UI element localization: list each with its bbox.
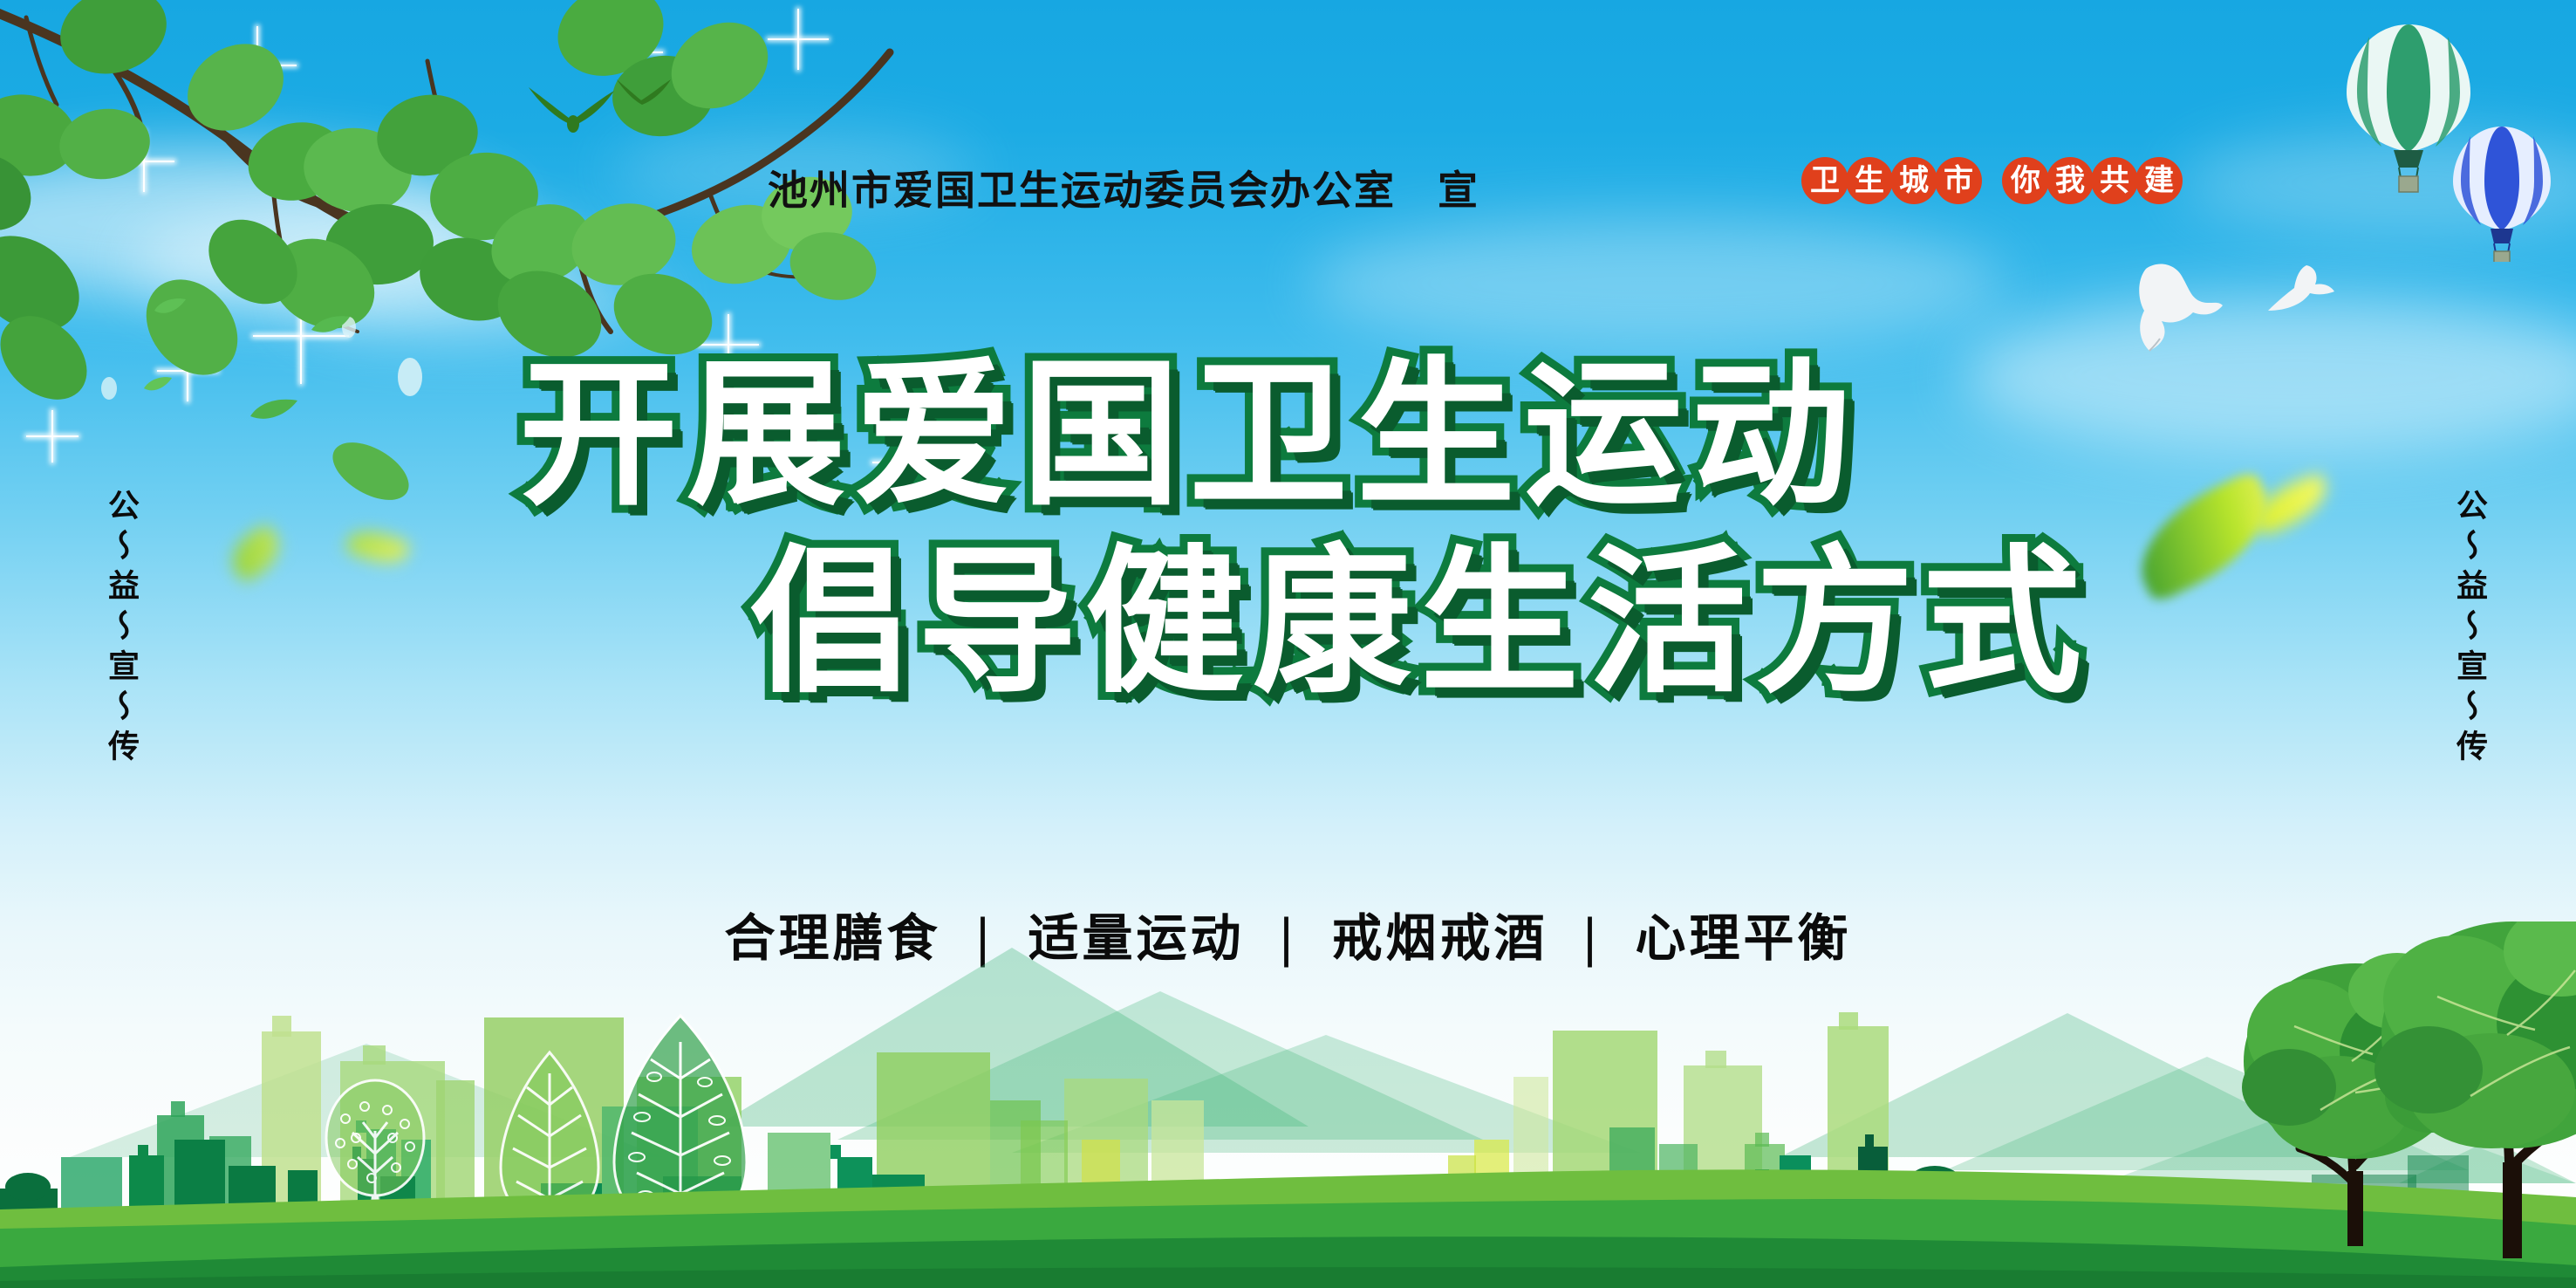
badge-group-one: 卫 生 城 市 <box>1801 157 1979 204</box>
badge-char: 市 <box>1935 157 1982 204</box>
poster-canvas: 池州市爱国卫生运动委员会办公室 宣 卫 生 城 市 你 我 共 建 开展爱国卫生… <box>0 0 2576 1288</box>
badge-char: 建 <box>2135 157 2183 204</box>
floating-leaf <box>142 375 174 394</box>
badge-char: 卫 <box>1801 157 1848 204</box>
floating-leaf <box>153 297 188 318</box>
flying-bird-icon <box>613 74 674 113</box>
dove-icon <box>2127 253 2231 358</box>
floating-leaf-blurred <box>222 522 289 585</box>
sparkle-icon <box>218 26 297 105</box>
dove-icon <box>2258 260 2336 330</box>
cloud-shape <box>288 262 663 340</box>
sparkle-icon <box>113 131 174 192</box>
floating-leaf <box>310 314 352 337</box>
side-label-left: 公～益～宣～传 <box>98 489 143 770</box>
cloud-shape <box>1308 218 2006 349</box>
badge-char: 生 <box>1846 157 1893 204</box>
badge-char: 城 <box>1890 157 1937 204</box>
badge-group-two: 你 我 共 建 <box>2002 157 2180 204</box>
sparkle-icon <box>253 288 349 384</box>
floating-leaf-blurred <box>2246 471 2335 537</box>
title-line-1: 开展爱国卫生运动 <box>519 349 1859 521</box>
side-label-right: 公～益～宣～传 <box>2446 489 2491 770</box>
hot-air-balloon-blue <box>2450 122 2554 262</box>
cloud-shape <box>1963 297 2576 454</box>
sparkle-icon <box>593 17 663 87</box>
badge-char: 我 <box>2046 157 2094 204</box>
floating-leaf <box>249 397 299 423</box>
flying-bird-icon <box>523 79 628 140</box>
floating-leaf-blurred <box>2121 469 2288 604</box>
title-line-2: 倡导健康生活方式 <box>750 537 2090 709</box>
sparkle-icon <box>157 340 218 401</box>
badge-char: 共 <box>2091 157 2138 204</box>
cloud-shape <box>2181 131 2576 236</box>
floating-leaf-blurred <box>344 524 411 571</box>
hot-air-balloon-green <box>2343 19 2474 194</box>
city-scene <box>0 921 2576 1288</box>
cloud-shape <box>0 148 506 297</box>
sparkle-icon <box>768 9 829 70</box>
slogan-badges: 卫 生 城 市 你 我 共 建 <box>1801 157 2180 204</box>
sparkle-icon <box>26 410 79 462</box>
cloud-shape <box>131 209 584 314</box>
organization-line: 池州市爱国卫生运动委员会办公室 宣 <box>768 159 1479 216</box>
badge-char: 你 <box>2002 157 2049 204</box>
